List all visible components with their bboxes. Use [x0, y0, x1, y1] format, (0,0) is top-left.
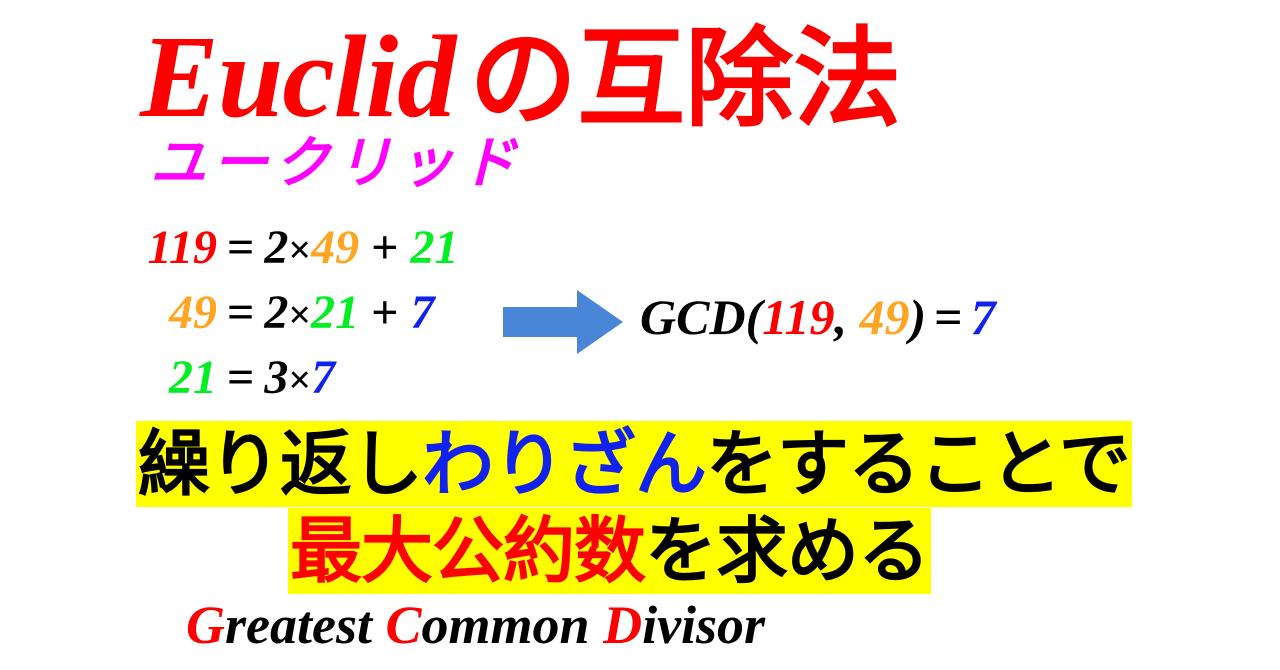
- equation-equals: =: [217, 354, 264, 402]
- gcd-result-expression: GCD(119, 49)=7: [640, 292, 996, 342]
- summary-line2-part2: を求める: [645, 508, 929, 593]
- summary-line-1: 繰り返しわりざんをすることで: [136, 421, 1132, 507]
- title-latin-text: Euclid: [140, 18, 455, 136]
- gcd-value: 7: [971, 289, 996, 345]
- summary-line1-part1: 繰り返し: [138, 421, 422, 506]
- gloss-space-1: [372, 595, 386, 655]
- gcd-close-paren: ): [909, 289, 926, 345]
- equation-lhs: 21: [112, 354, 217, 402]
- gcd-comma: ,: [834, 289, 847, 345]
- equation-quotient: 2: [264, 289, 288, 337]
- gcd-equals-sign: =: [926, 289, 971, 345]
- gloss-initial-c: C: [385, 595, 421, 655]
- equation-divisor: 49: [311, 224, 359, 272]
- summary-line-2: 最大公約数を求める: [288, 508, 931, 594]
- gcd-arg-second: 49: [859, 289, 909, 345]
- gloss-space-2: [590, 595, 604, 655]
- gloss-initial-g: G: [186, 595, 225, 655]
- equation-remainder: 21: [411, 224, 459, 272]
- equation-divisor: 7: [311, 354, 335, 402]
- summary-line1-part3: をすることで: [706, 421, 1130, 506]
- equation-row: 119 = 2 × 49 + 21: [112, 224, 512, 289]
- equation-equals: =: [217, 289, 264, 337]
- gloss-word-common: ommon: [422, 595, 590, 655]
- equation-quotient: 3: [264, 354, 288, 402]
- gloss-word-divisor: ivisor: [642, 595, 765, 655]
- gloss-initial-d: D: [603, 595, 642, 655]
- equation-quotient: 2: [264, 224, 288, 272]
- gloss-word-greatest: reatest: [225, 595, 372, 655]
- equation-times-sign: ×: [288, 230, 311, 270]
- equation-times-sign: ×: [288, 360, 311, 400]
- equation-lhs: 119: [112, 224, 217, 272]
- equation-equals: =: [217, 224, 264, 272]
- equation-divisor: 21: [311, 289, 359, 337]
- gcd-english-gloss: Greatest Common Divisor: [186, 598, 765, 652]
- right-arrow-icon: [503, 288, 623, 356]
- equation-times-sign: ×: [288, 295, 311, 335]
- euclid-equation-list: 119 = 2 × 49 + 21 49 = 2 × 21 + 7 21 = 3…: [112, 224, 512, 419]
- equation-remainder: 7: [411, 289, 435, 337]
- page-title: Euclid の互除法: [140, 18, 901, 136]
- equation-row: 21 = 3 × 7: [112, 354, 512, 419]
- equation-plus-sign: +: [359, 224, 410, 272]
- summary-line1-part2: わりざん: [422, 421, 706, 506]
- equation-lhs: 49: [112, 289, 217, 337]
- title-japanese-text: の互除法: [469, 25, 901, 133]
- summary-line2-part1: 最大公約数: [290, 508, 645, 593]
- gcd-function-name: GCD: [640, 289, 746, 345]
- gcd-arg-first: 119: [762, 289, 834, 345]
- equation-plus-sign: +: [359, 289, 410, 337]
- title-katakana-reading: ユークリッド: [150, 136, 522, 192]
- equation-row: 49 = 2 × 21 + 7: [112, 289, 512, 354]
- gcd-open-paren: (: [746, 289, 763, 345]
